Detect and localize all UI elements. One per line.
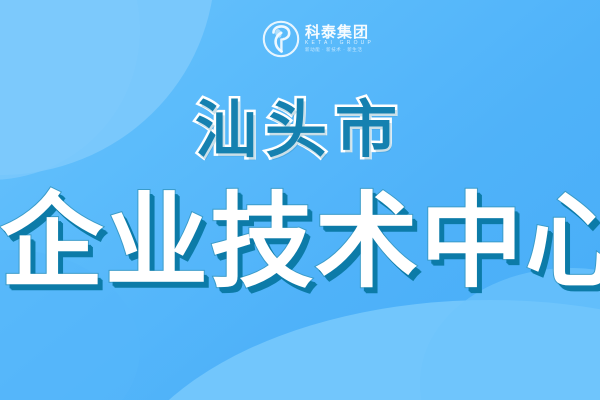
banner-poster: 科泰集团 KETAI GROUP 新动能 · 新技术 · 新生活 汕头市 企业技… [0,0,600,400]
logo-wordmark: 科泰集团 KETAI GROUP 新动能 · 新技术 · 新生活 [305,25,374,53]
headline-title: 企业技术中心 [0,190,600,293]
logo-company-name-cn: 科泰集团 [305,25,374,40]
ketai-emblem-icon [262,20,300,58]
logo-slogan: 新动能 · 新技术 · 新生活 [305,48,374,53]
company-logo: 科泰集团 KETAI GROUP 新动能 · 新技术 · 新生活 [262,20,374,58]
decorative-blob-bottom [110,300,600,400]
headline-city: 汕头市 [0,100,600,162]
logo-company-name-en: KETAI GROUP [305,41,374,46]
